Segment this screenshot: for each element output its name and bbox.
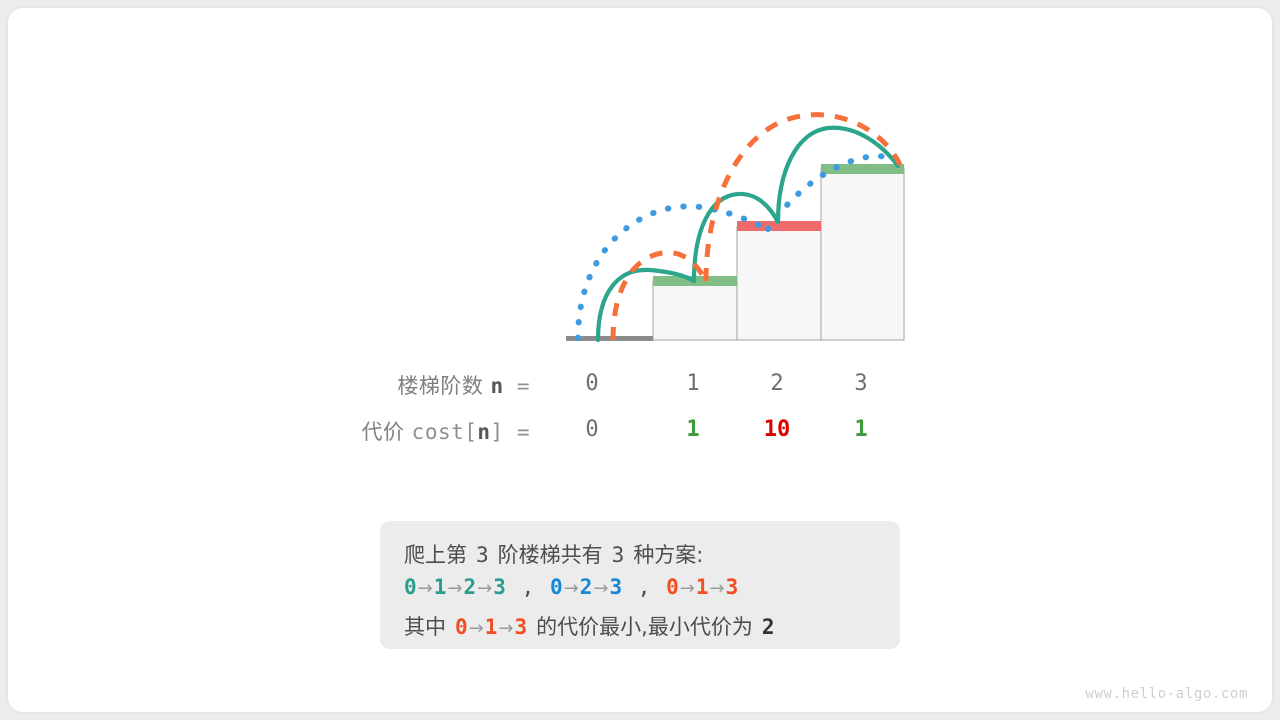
cost-value-1: 1 bbox=[663, 417, 723, 442]
stair-index-2: 2 bbox=[747, 371, 807, 396]
arrow-icon: → bbox=[679, 578, 696, 599]
arrow-icon: → bbox=[468, 618, 485, 639]
row-cost: 代价 cost[n] = bbox=[330, 416, 530, 450]
cost-value-3: 1 bbox=[831, 417, 891, 442]
row-stair-index-title: 楼梯阶数 n = bbox=[397, 370, 530, 400]
arrow-icon: → bbox=[497, 618, 514, 639]
caption-box: 爬上第3阶楼梯共有3种方案: 0→1→2→3 , 0→2→3 , 0→1→3 其… bbox=[380, 521, 900, 649]
caption-line-2: 0→1→2→3 , 0→2→3 , 0→1→3 bbox=[404, 575, 738, 599]
step-body-2 bbox=[737, 227, 821, 340]
caption-line-1: 爬上第3阶楼梯共有3种方案: bbox=[404, 539, 703, 569]
row-stair-index: 楼梯阶数 n = bbox=[330, 370, 530, 404]
watermark: www.hello-algo.com bbox=[1085, 686, 1248, 702]
stair-index-0: 0 bbox=[562, 371, 622, 396]
stair-index-3: 3 bbox=[831, 371, 891, 396]
arrow-icon: → bbox=[563, 578, 580, 599]
caption-path-orange: 0→1→3 bbox=[659, 575, 738, 599]
step-body-1 bbox=[653, 281, 737, 340]
stair-index-1: 1 bbox=[663, 371, 723, 396]
caption-line-3: 其中0→1→3的代价最小,最小代价为2 bbox=[404, 611, 775, 641]
cost-value-0: 0 bbox=[562, 417, 622, 442]
caption-separator: , bbox=[629, 575, 660, 599]
arrow-icon: → bbox=[592, 578, 609, 599]
caption-path-blue: 0→2→3 bbox=[543, 575, 629, 599]
cost-value-2: 10 bbox=[747, 417, 807, 442]
caption-separator: , bbox=[513, 575, 544, 599]
caption-min-path: 0→1→3 bbox=[455, 615, 527, 639]
screenshot-canvas: 楼梯阶数 n = 0 1 2 3 代价 cost[n] = 0 1 10 1 爬… bbox=[0, 0, 1280, 720]
arrow-icon: → bbox=[709, 578, 726, 599]
arrow-icon: → bbox=[417, 578, 434, 599]
step-top-3-green bbox=[821, 164, 904, 174]
caption-path-teal: 0→1→2→3 bbox=[404, 575, 513, 599]
arrow-icon: → bbox=[446, 578, 463, 599]
step-body-3 bbox=[821, 169, 904, 340]
arrow-icon: → bbox=[476, 578, 493, 599]
row-cost-title: 代价 cost[n] = bbox=[361, 416, 530, 446]
